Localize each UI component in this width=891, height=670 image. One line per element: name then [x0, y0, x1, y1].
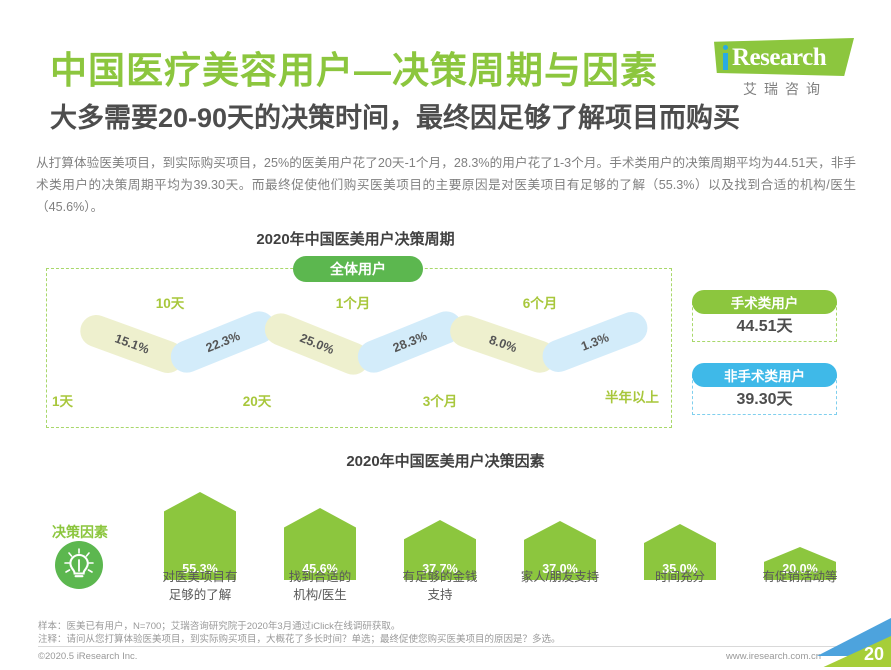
chart2-bars: 55.3% 45.6% 37.7% 37.0% 35.0% 20.0%: [0, 484, 891, 580]
logo-chinese-name: 艾瑞咨询: [720, 79, 850, 99]
chart1-segment-4-value: 8.0%: [487, 333, 519, 356]
chart1-bottom-label-2: 3个月: [405, 390, 475, 410]
page-title: 中国医疗美容用户—决策周期与因素: [50, 40, 658, 94]
chart2-category-3-line0: 家人/朋友支持: [505, 568, 615, 586]
chart2-category-1: 找到合适的 机构/医生: [265, 568, 375, 604]
chart2-category-3: 家人/朋友支持: [505, 568, 615, 586]
chart2-category-0: 对医美项目有 足够的了解: [145, 568, 255, 604]
chart2-category-4: 时间充分: [625, 568, 735, 586]
footnote-note: 注释：请问从您打算体验医美项目，到实际购买项目，大概花了多长时间？单选；最终促使…: [38, 633, 728, 646]
logo-wordmark: Research: [732, 44, 826, 72]
chart2-category-0-line0: 对医美项目有: [145, 568, 255, 586]
page-corner-decoration: 20: [817, 618, 891, 670]
chart1-top-label-0: 10天: [130, 292, 210, 312]
chart2-category-1-line0: 找到合适的: [265, 568, 375, 586]
footer-divider: [38, 646, 853, 647]
chart2-category-2-line1: 支持: [385, 586, 495, 604]
chart1-segment-2-value: 25.0%: [298, 331, 336, 357]
chart2-category-2-line0: 有足够的金钱: [385, 568, 495, 586]
chart2-category-4-line0: 时间充分: [625, 568, 735, 586]
chart2-category-5-line0: 有促销活动等: [745, 568, 855, 586]
stat-nonsurgery-users-label: 非手术类用户: [692, 363, 837, 387]
chart2-bar-0: 55.3%: [164, 492, 236, 580]
chart1-top-label-2: 6个月: [500, 292, 580, 312]
copyright-text: ©2020.5 iResearch Inc.: [38, 651, 137, 662]
chart1-segment-5-value: 1.3%: [579, 330, 611, 353]
footnotes: 样本：医美已有用户，N=700；艾瑞咨询研究院于2020年3月通过iClick在…: [38, 620, 728, 646]
chart2-category-1-line1: 机构/医生: [265, 586, 375, 604]
chart1-bottom-label-3: 半年以上: [605, 390, 659, 406]
footnote-sample: 样本：医美已有用户，N=700；艾瑞咨询研究院于2020年3月通过iClick在…: [38, 620, 728, 633]
stat-surgery-users-label: 手术类用户: [692, 290, 837, 314]
chart1-bottom-label-0: 1天: [52, 390, 102, 410]
chart1-bottom-label-3-text: 半年以上: [605, 390, 659, 405]
chart1-bottom-label-1: 20天: [222, 390, 292, 410]
logo-i-stem-icon: [723, 53, 728, 70]
chart1-badge-all-users: 全体用户: [293, 256, 423, 282]
chart1-segment-0-value: 15.1%: [113, 331, 151, 356]
stat-surgery-users: 手术类用户 44.51天: [692, 290, 837, 342]
slide-root: 中国医疗美容用户—决策周期与因素 大多需要20-90天的决策时间，最终因足够了解…: [0, 0, 891, 670]
website-url: www.iresearch.com.cn: [726, 651, 821, 662]
iresearch-logo: Research 艾瑞咨询: [700, 38, 860, 100]
chart2-category-0-line1: 足够的了解: [145, 586, 255, 604]
chart2-title: 2020年中国医美用户决策因素: [0, 450, 891, 471]
chart1-top-label-1: 1个月: [313, 292, 393, 312]
chart2-category-5: 有促销活动等: [745, 568, 855, 586]
stat-nonsurgery-users: 非手术类用户 39.30天: [692, 363, 837, 415]
logo-i-dot-icon: [723, 45, 728, 50]
chart1-title: 2020年中国医美用户决策周期: [0, 228, 711, 249]
page-number: 20: [864, 644, 884, 665]
chart1-segment-1-value: 22.3%: [204, 329, 242, 355]
summary-paragraph: 从打算体验医美项目，到实际购买项目，25%的医美用户花了20天-1个月，28.3…: [36, 152, 856, 218]
chart2-category-2: 有足够的金钱 支持: [385, 568, 495, 604]
chart1-segment-3-value: 28.3%: [391, 329, 429, 355]
page-subtitle: 大多需要20-90天的决策时间，最终因足够了解项目而购买: [50, 96, 740, 135]
